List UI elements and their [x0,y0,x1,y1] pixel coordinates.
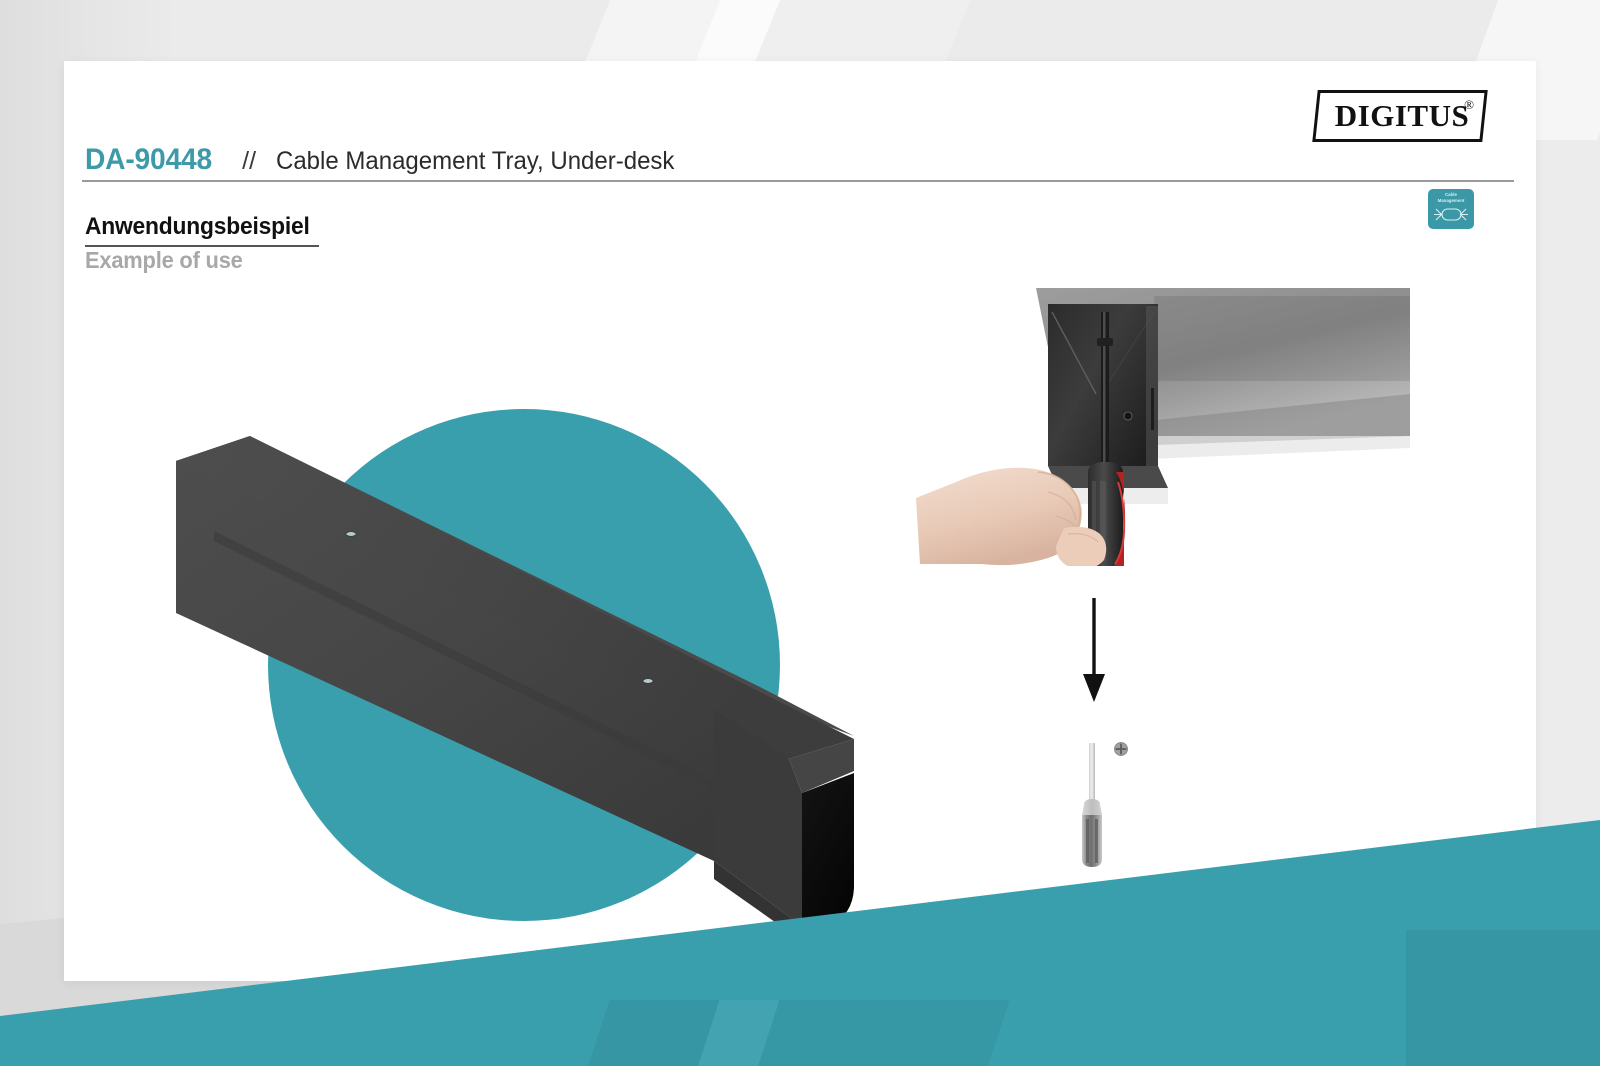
phillips-screw-icon [1115,743,1128,756]
installation-photo-graphic [896,276,1410,566]
cable-tray-render [154,341,854,961]
category-badge-line2: Management [1430,198,1472,204]
section-heading-de: Anwendungsbeispiel [85,213,310,241]
digitus-logo: DIGITUS ® [1315,90,1485,142]
logo-wordmark: DIGITUS [1315,90,1485,142]
product-title: Cable Management Tray, Under-desk [276,147,674,176]
product-illustration [154,341,854,961]
teal-wedge-stripe-3 [741,1000,1010,1066]
page-title: DA-90448 // Cable Management Tray, Under… [85,143,691,177]
slide-canvas: DIGITUS ® DA-90448 // Cable Management T… [0,0,1600,1066]
logo-registered-mark: ® [1464,97,1474,113]
down-arrow-icon [1074,598,1114,713]
cable-management-icon [1433,206,1469,223]
installation-photo [896,276,1410,566]
category-badge[interactable]: Cable Management [1428,189,1474,229]
content-card: DIGITUS ® DA-90448 // Cable Management T… [64,61,1536,981]
title-separator: // [242,147,256,176]
title-divider [82,180,1514,182]
teal-wedge-shade-right [1406,930,1600,1066]
screwdriver-graphic [1074,741,1144,886]
product-sku: DA-90448 [85,143,212,177]
section-heading-en: Example of use [85,247,243,274]
